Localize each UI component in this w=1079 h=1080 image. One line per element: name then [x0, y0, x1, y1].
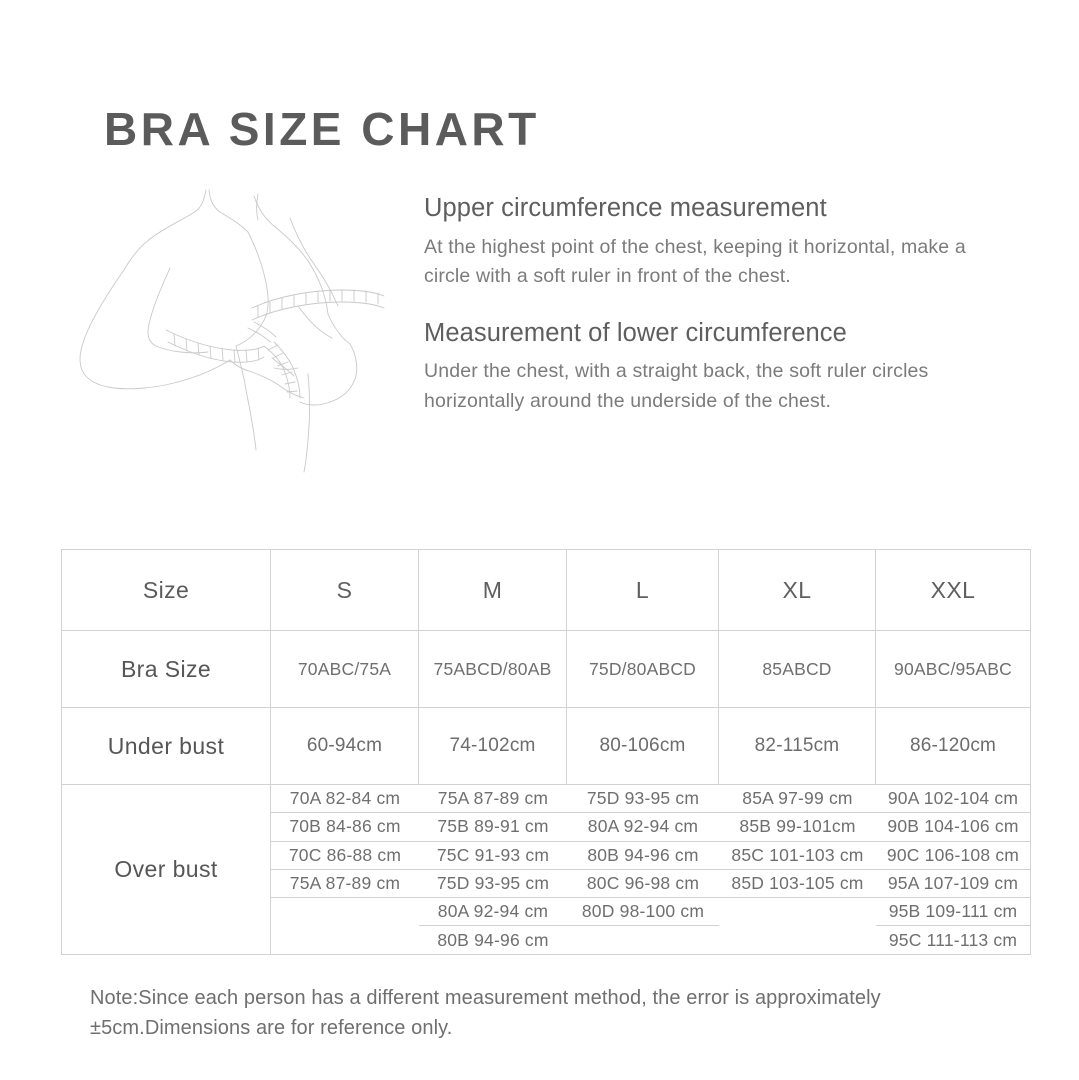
row-label-over-bust: Over bust — [62, 785, 271, 955]
instructions-panel: Upper circumference measurement At the h… — [424, 193, 1004, 443]
under-bust-xxl: 86-120cm — [876, 708, 1031, 785]
header-cell-s: S — [271, 550, 419, 631]
table-row-bra-size: Bra Size 70ABC/75A 75ABCD/80AB 75D/80ABC… — [62, 631, 1031, 708]
bra-size-xxl: 90ABC/95ABC — [876, 631, 1031, 708]
under-bust-l: 80-106cm — [567, 708, 719, 785]
over-bust-xl-2: 85B 99-101cm — [719, 813, 876, 841]
over-bust-m-2: 75B 89-91 cm — [419, 813, 567, 841]
over-bust-m-4: 75D 93-95 cm — [419, 869, 567, 897]
over-bust-xxl-4: 95A 107-109 cm — [876, 869, 1030, 897]
under-bust-m: 74-102cm — [419, 708, 567, 785]
bra-size-m: 75ABCD/80AB — [419, 631, 567, 708]
table-row-under-bust: Under bust 60-94cm 74-102cm 80-106cm 82-… — [62, 708, 1031, 785]
over-bust-s-5 — [271, 898, 419, 926]
over-bust-m-1: 75A 87-89 cm — [419, 785, 567, 813]
over-bust-grid-host: 70A 82-84 cm75A 87-89 cm75D 93-95 cm85A … — [271, 785, 1031, 955]
over-bust-subrow: 70A 82-84 cm75A 87-89 cm75D 93-95 cm85A … — [271, 785, 1030, 813]
over-bust-xxl-6: 95C 111-113 cm — [876, 926, 1030, 954]
row-label-under-bust: Under bust — [62, 708, 271, 785]
instruction-block-upper: Upper circumference measurement At the h… — [424, 193, 1004, 292]
over-bust-xxl-2: 90B 104-106 cm — [876, 813, 1030, 841]
over-bust-xxl-5: 95B 109-111 cm — [876, 898, 1030, 926]
header-cell-xl: XL — [719, 550, 876, 631]
instruction-block-lower: Measurement of lower circumference Under… — [424, 318, 1004, 417]
table-row-over-bust: Over bust 70A 82-84 cm75A 87-89 cm75D 93… — [62, 785, 1031, 955]
over-bust-xxl-1: 90A 102-104 cm — [876, 785, 1030, 813]
over-bust-xl-6 — [719, 926, 876, 954]
table-header-row: Size S M L XL XXL — [62, 550, 1031, 631]
bra-size-l: 75D/80ABCD — [567, 631, 719, 708]
over-bust-xxl-3: 90C 106-108 cm — [876, 841, 1030, 869]
instruction-body-lower: Under the chest, with a straight back, t… — [424, 357, 1004, 416]
over-bust-m-3: 75C 91-93 cm — [419, 841, 567, 869]
under-bust-xl: 82-115cm — [719, 708, 876, 785]
over-bust-subtable: 70A 82-84 cm75A 87-89 cm75D 93-95 cm85A … — [271, 785, 1030, 954]
over-bust-s-1: 70A 82-84 cm — [271, 785, 419, 813]
bra-size-xl: 85ABCD — [719, 631, 876, 708]
over-bust-l-1: 75D 93-95 cm — [567, 785, 719, 813]
disclaimer-note: Note:Since each person has a different m… — [90, 984, 990, 1043]
header-cell-l: L — [567, 550, 719, 631]
over-bust-m-6: 80B 94-96 cm — [419, 926, 567, 954]
bra-size-table: Size S M L XL XXL Bra Size 70ABC/75A 75A… — [61, 549, 1031, 955]
over-bust-s-4: 75A 87-89 cm — [271, 869, 419, 897]
header-cell-m: M — [419, 550, 567, 631]
header-cell-xxl: XXL — [876, 550, 1031, 631]
over-bust-xl-5 — [719, 898, 876, 926]
over-bust-xl-4: 85D 103-105 cm — [719, 869, 876, 897]
under-bust-s: 60-94cm — [271, 708, 419, 785]
header-cell-size: Size — [62, 550, 271, 631]
over-bust-subrow: 80A 92-94 cm80D 98-100 cm95B 109-111 cm — [271, 898, 1030, 926]
over-bust-subrow: 75A 87-89 cm75D 93-95 cm80C 96-98 cm85D … — [271, 869, 1030, 897]
bra-size-s: 70ABC/75A — [271, 631, 419, 708]
instruction-body-upper: At the highest point of the chest, keepi… — [424, 233, 1004, 292]
row-label-bra-size: Bra Size — [62, 631, 271, 708]
over-bust-s-6 — [271, 926, 419, 954]
over-bust-s-3: 70C 86-88 cm — [271, 841, 419, 869]
instruction-heading-upper: Upper circumference measurement — [424, 193, 1004, 224]
over-bust-s-2: 70B 84-86 cm — [271, 813, 419, 841]
over-bust-l-3: 80B 94-96 cm — [567, 841, 719, 869]
over-bust-subrow: 70B 84-86 cm75B 89-91 cm80A 92-94 cm85B … — [271, 813, 1030, 841]
torso-measuring-tape-illustration — [58, 178, 423, 478]
page-title: BRA SIZE CHART — [104, 104, 540, 155]
over-bust-subrow: 80B 94-96 cm95C 111-113 cm — [271, 926, 1030, 954]
over-bust-xl-3: 85C 101-103 cm — [719, 841, 876, 869]
over-bust-subrow: 70C 86-88 cm75C 91-93 cm80B 94-96 cm85C … — [271, 841, 1030, 869]
over-bust-l-2: 80A 92-94 cm — [567, 813, 719, 841]
over-bust-l-5: 80D 98-100 cm — [567, 898, 719, 926]
over-bust-l-6 — [567, 926, 719, 954]
over-bust-xl-1: 85A 97-99 cm — [719, 785, 876, 813]
over-bust-m-5: 80A 92-94 cm — [419, 898, 567, 926]
instruction-heading-lower: Measurement of lower circumference — [424, 318, 1004, 349]
over-bust-l-4: 80C 96-98 cm — [567, 869, 719, 897]
